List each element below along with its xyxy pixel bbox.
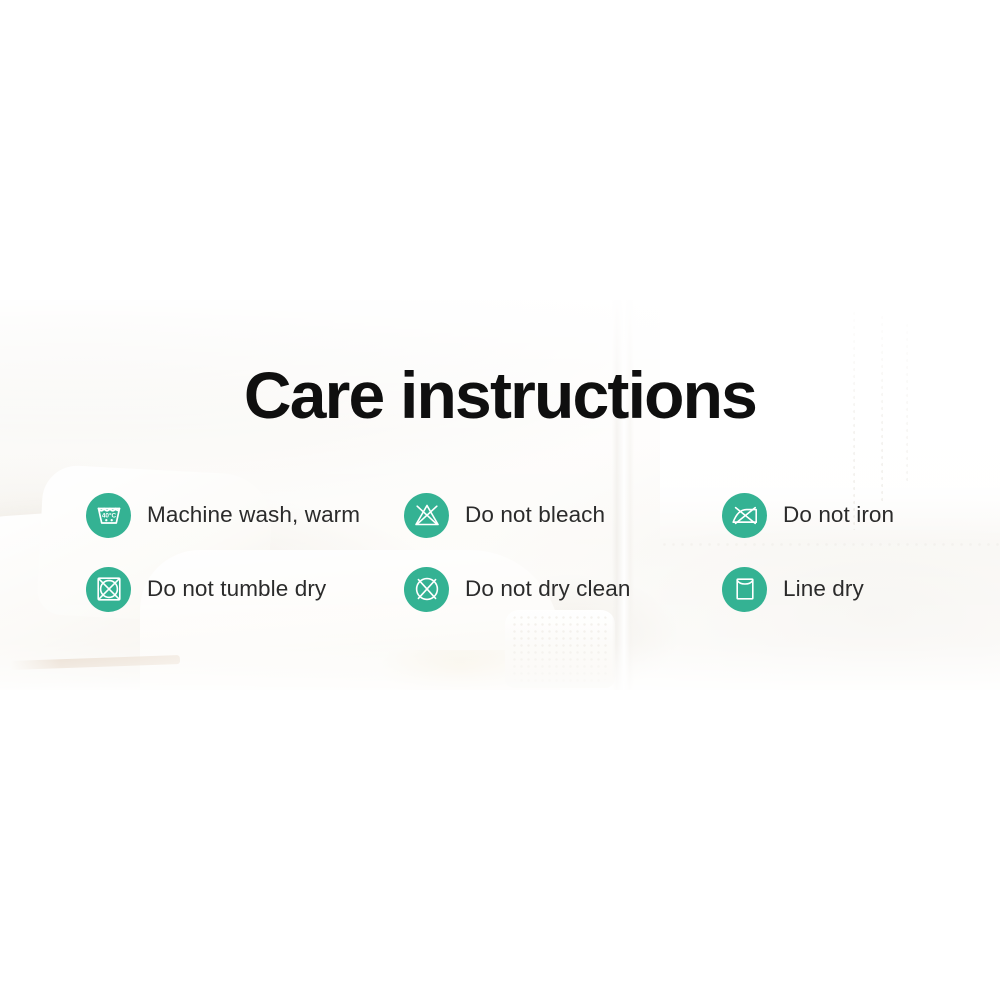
care-instructions-banner-page: Care instructions 40°C Machine wash, war… <box>0 0 1000 1000</box>
do-not-iron-icon <box>722 493 767 538</box>
banner-content: Care instructions 40°C Machine wash, war… <box>0 300 1000 690</box>
do-not-dry-clean-icon <box>404 567 449 612</box>
care-item-machine-wash-warm: 40°C Machine wash, warm <box>86 493 404 538</box>
wash-tub-40c-icon: 40°C <box>86 493 131 538</box>
care-item-line-dry: Line dry <box>722 567 926 612</box>
line-dry-icon <box>722 567 767 612</box>
care-item-do-not-bleach: Do not bleach <box>404 493 722 538</box>
care-item-label: Do not iron <box>783 502 894 528</box>
do-not-bleach-triangle-icon <box>404 493 449 538</box>
care-item-label: Line dry <box>783 576 864 602</box>
care-item-label: Do not tumble dry <box>147 576 326 602</box>
care-item-label: Do not dry clean <box>465 576 630 602</box>
care-item-do-not-iron: Do not iron <box>722 493 926 538</box>
care-item-label: Do not bleach <box>465 502 605 528</box>
care-items-grid: 40°C Machine wash, warm <box>86 478 926 626</box>
care-item-do-not-tumble-dry: Do not tumble dry <box>86 567 404 612</box>
svg-text:40°C: 40°C <box>101 512 116 520</box>
banner-photo-band: Care instructions 40°C Machine wash, war… <box>0 300 1000 690</box>
care-item-do-not-dry-clean: Do not dry clean <box>404 567 722 612</box>
do-not-tumble-dry-icon <box>86 567 131 612</box>
page-title: Care instructions <box>0 362 1000 428</box>
care-item-label: Machine wash, warm <box>147 502 360 528</box>
